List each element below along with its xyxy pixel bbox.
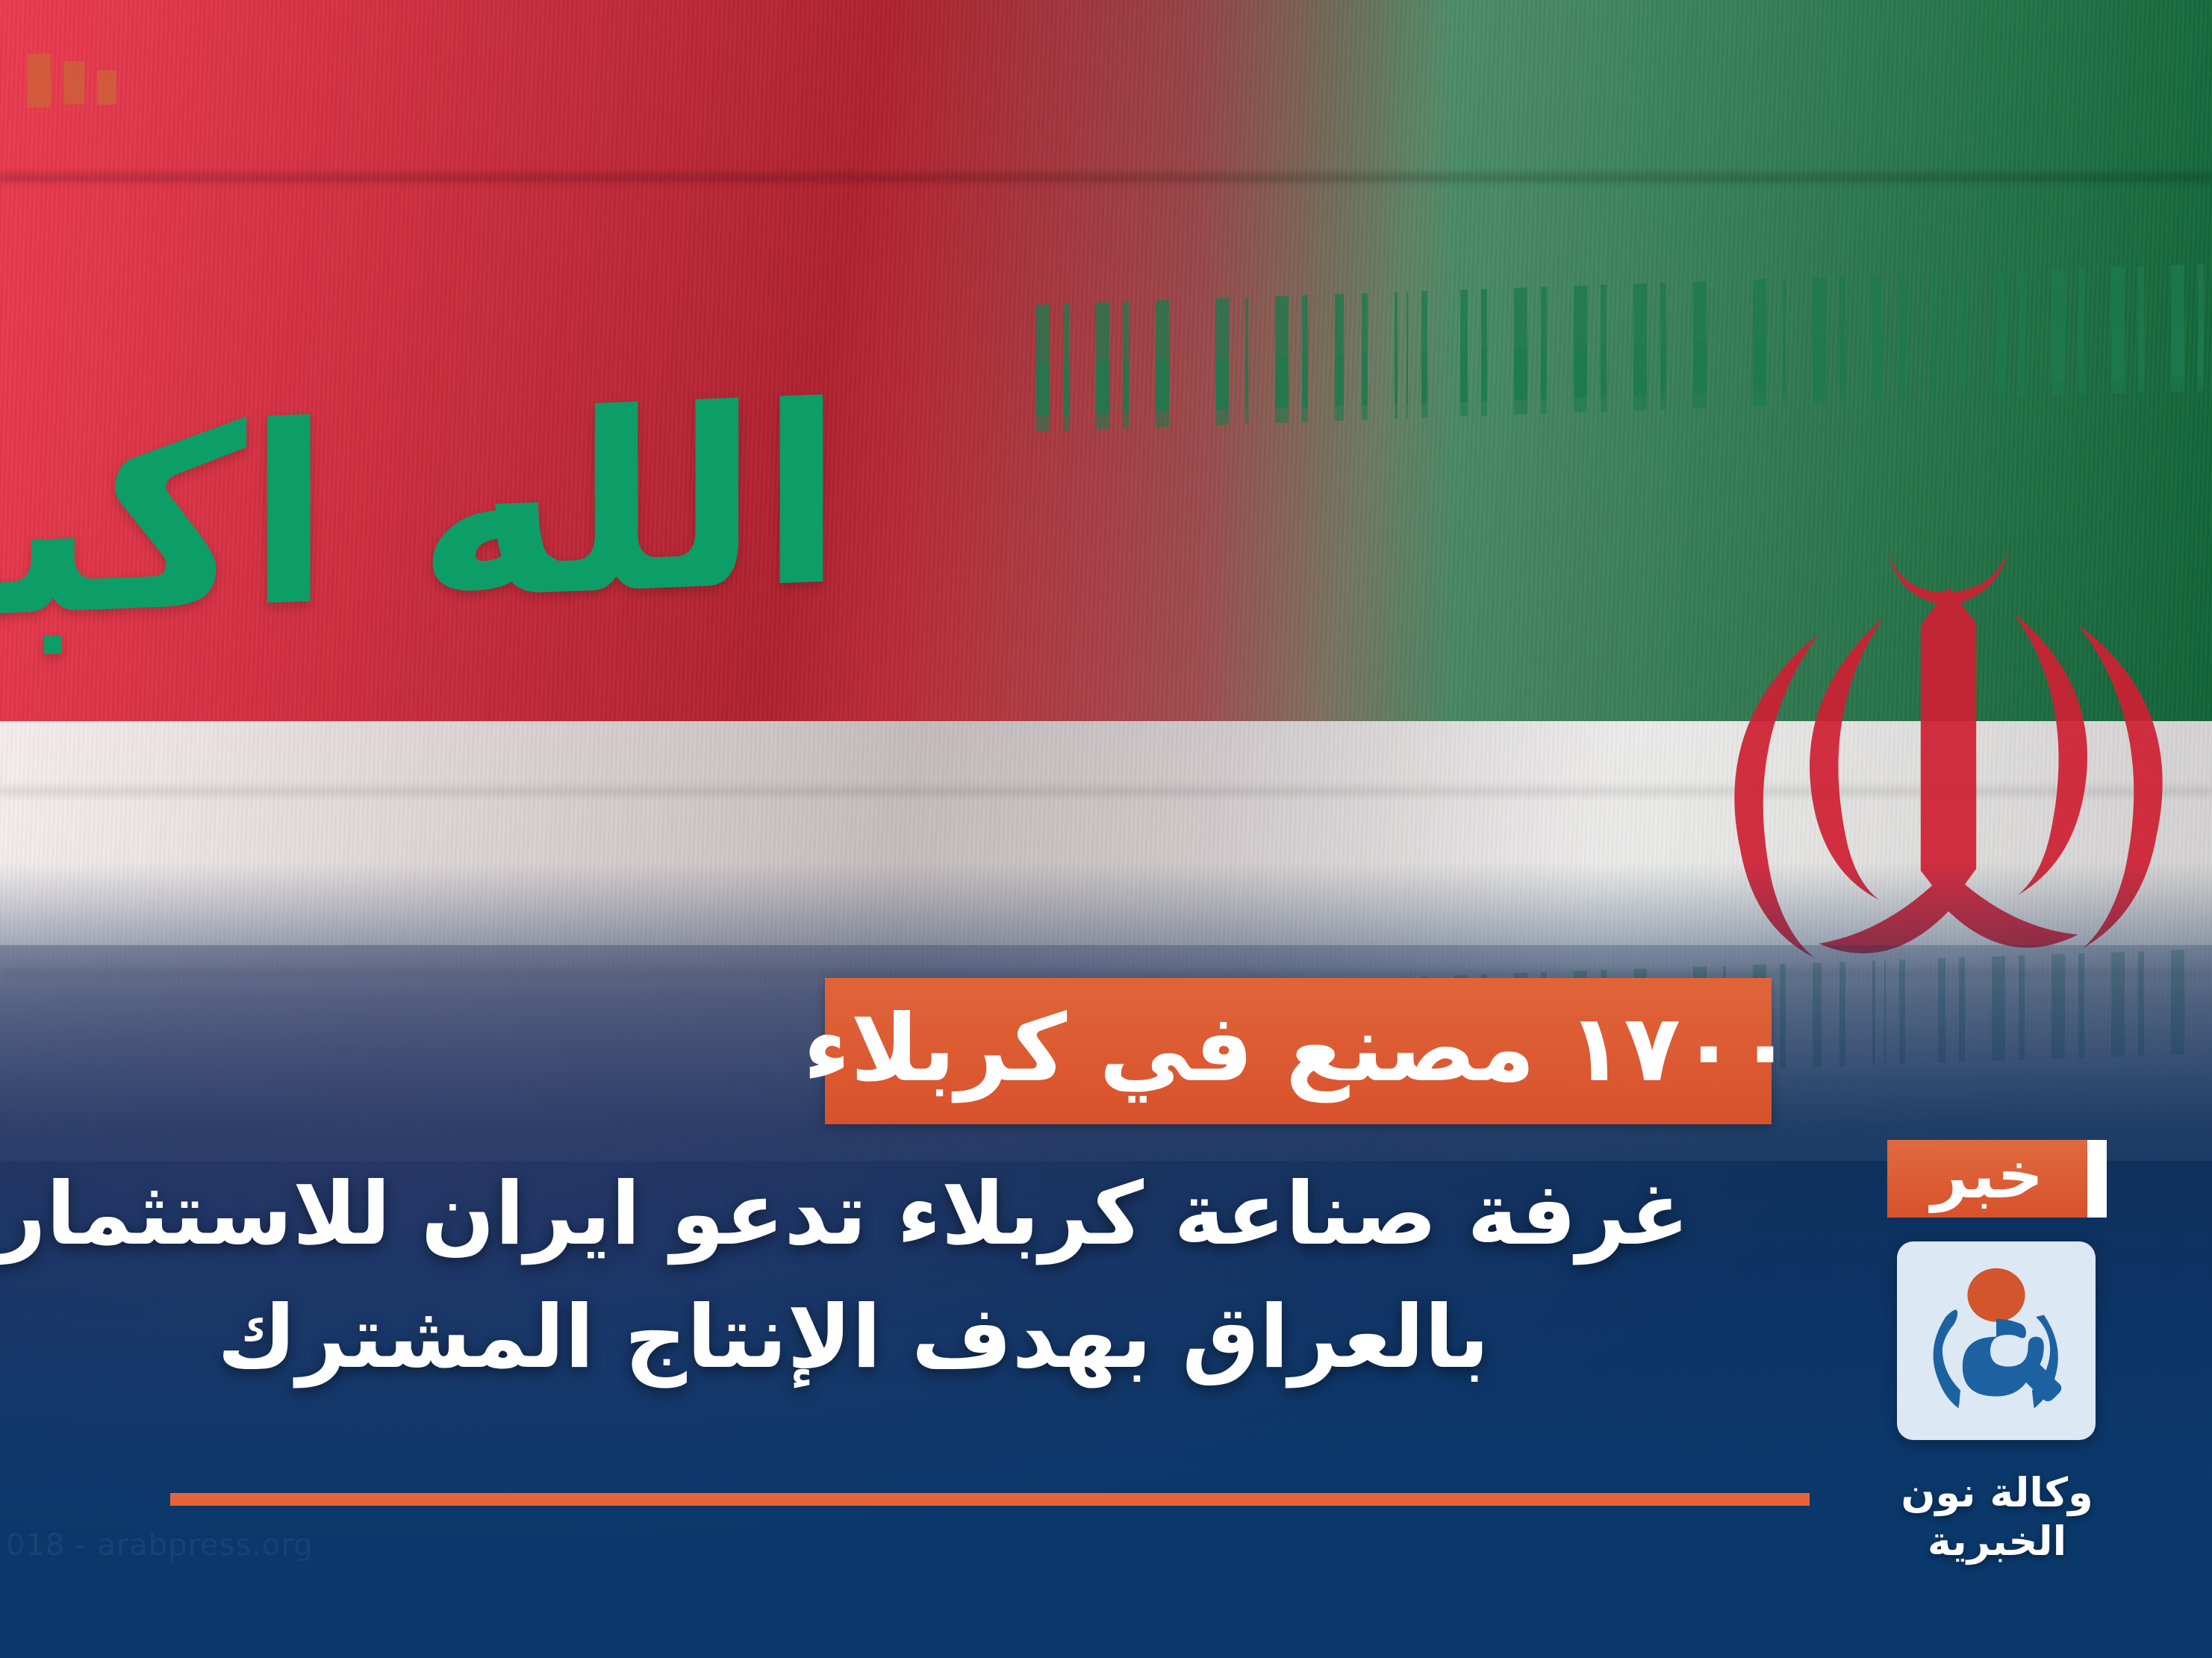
news-type-badge-tip xyxy=(2087,1140,2107,1218)
headline-line-1: غرفة صناعة كربلاء تدعو ايران للاستثمار xyxy=(17,1153,1689,1277)
kicker-label: ١٧٠٠ مصنع في كربلاء xyxy=(803,1003,1794,1095)
news-type-badge: خبر xyxy=(1887,1140,2087,1218)
headline: غرفة صناعة كربلاء تدعو ايران للاستثمار ب… xyxy=(17,1153,1689,1399)
three-bars-logo-icon xyxy=(27,54,116,107)
headline-line-2: بالعراق بهدف الإنتاج المشترك xyxy=(17,1277,1689,1400)
kicker-badge: ١٧٠٠ مصنع في كربلاء xyxy=(825,978,1772,1124)
flags-background-image: الله اكبر xyxy=(0,0,2212,1658)
source-url-watermark: 018 - arabpress.org xyxy=(6,1528,314,1562)
orange-divider xyxy=(170,1493,1810,1506)
noon-figure-icon xyxy=(1897,1241,2096,1440)
agency-name: وكالة نون الخبرية xyxy=(1836,1469,2158,1566)
news-type-badge-label: خبر xyxy=(1931,1144,2044,1208)
agency-logo xyxy=(1897,1241,2096,1440)
news-card-canvas: الله اكبر xyxy=(0,0,2212,1658)
